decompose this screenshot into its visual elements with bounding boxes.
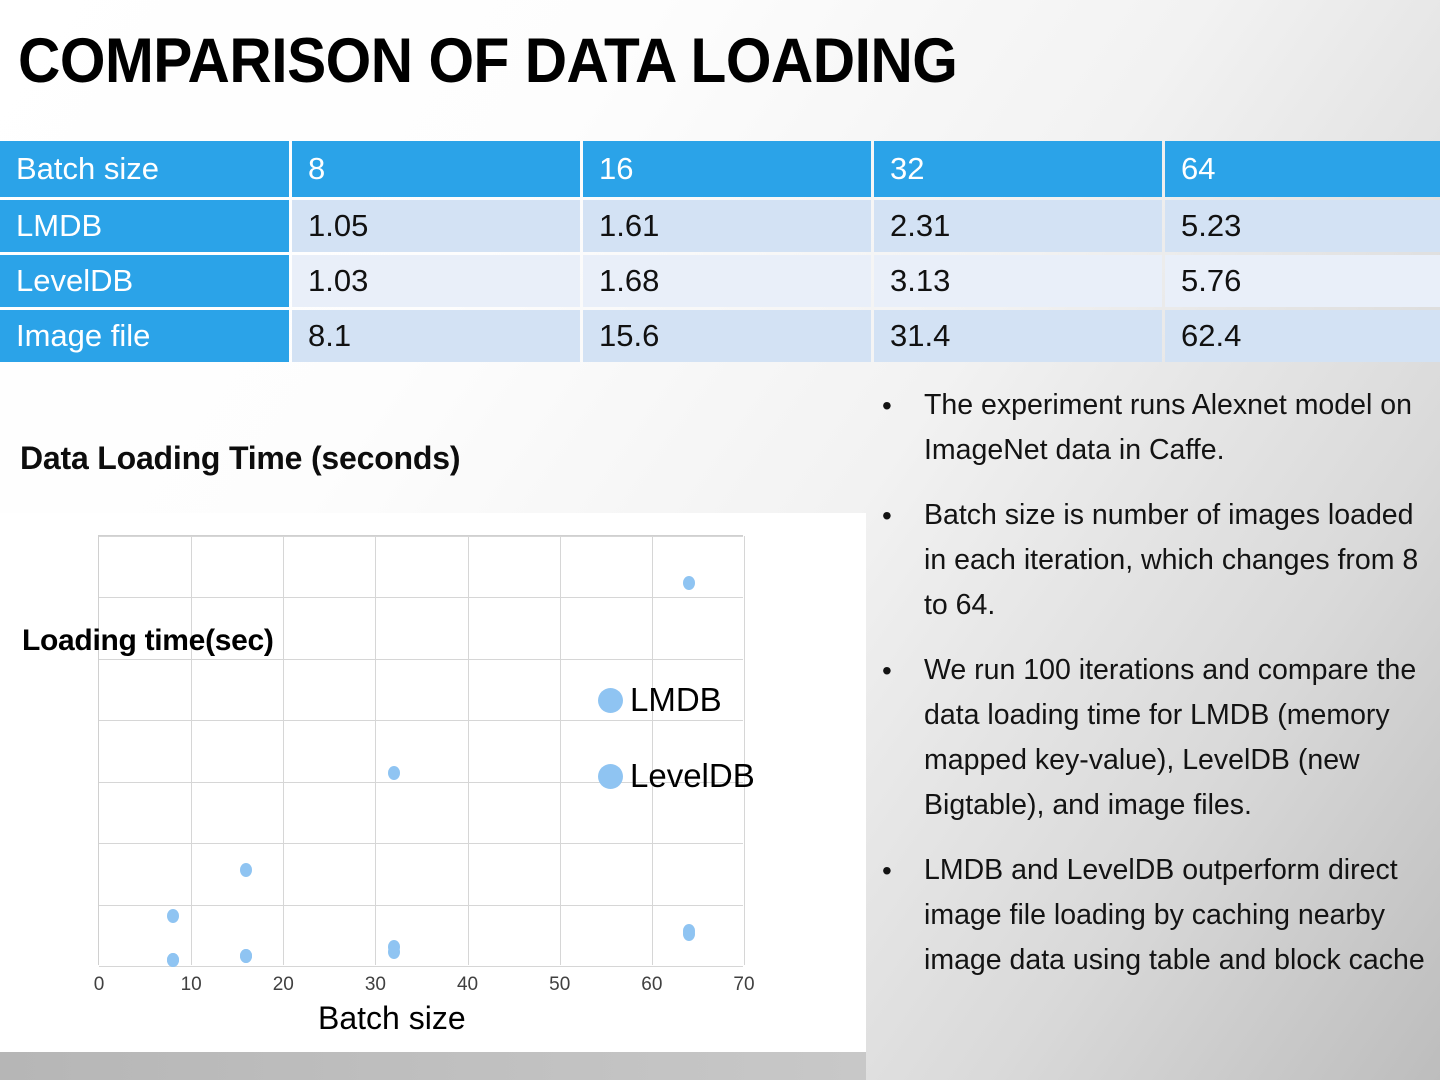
table-cell: 2.31 [874,200,1162,252]
table-row: Image file 8.1 15.6 31.4 62.4 [0,310,1440,362]
legend-marker-icon [598,764,623,789]
grid-line-horizontal [99,536,743,537]
table-cell: 1.68 [583,255,871,307]
bullet-marker-icon: • [882,648,892,693]
grid-line-vertical [191,536,192,965]
table-cell: 31.4 [874,310,1162,362]
chart-y-axis-label: Loading time(sec) [22,624,274,658]
grid-line-horizontal [99,597,743,598]
table-cell: 5.76 [1165,255,1440,307]
scatter-point [388,766,400,780]
table-cell: 1.03 [292,255,580,307]
table-header-cell: 32 [874,141,1162,197]
bottom-accent-band [0,1052,866,1080]
list-item-text: The experiment runs Alexnet model on Ima… [924,389,1412,466]
grid-line-vertical [468,536,469,965]
table-row-label: LMDB [0,200,289,252]
data-table-container: Batch size 8 16 32 64 LMDB 1.05 1.61 2.3… [0,138,1440,365]
scatter-point [240,949,252,963]
scatter-point [683,576,695,590]
legend-marker-icon [598,688,623,713]
scatter-point [388,940,400,954]
table-row: LevelDB 1.03 1.68 3.13 5.76 [0,255,1440,307]
x-axis-tick-label: 20 [253,974,313,996]
table-cell: 8.1 [292,310,580,362]
grid-line-vertical [375,536,376,965]
list-item: • We run 100 iterations and compare the … [868,648,1434,828]
table-header-cell: 8 [292,141,580,197]
list-item: • Batch size is number of images loaded … [868,493,1434,628]
scatter-point [683,924,695,938]
table-header-row: Batch size 8 16 32 64 [0,141,1440,197]
bullet-marker-icon: • [882,493,892,538]
scatter-point [167,909,179,923]
table-cell: 1.05 [292,200,580,252]
chart-legend: LMDB LevelDB [598,681,755,833]
table-row-label: Image file [0,310,289,362]
table-header-cell: 64 [1165,141,1440,197]
grid-line-vertical [560,536,561,965]
x-axis-tick-label: 0 [69,974,129,996]
x-axis-tick-label: 10 [161,974,221,996]
grid-line-horizontal [99,966,743,967]
legend-item: LMDB [598,681,755,719]
table-cell: 62.4 [1165,310,1440,362]
table-header-cell: 16 [583,141,871,197]
bullet-marker-icon: • [882,383,892,428]
x-axis-tick-label: 50 [530,974,590,996]
list-item: • LMDB and LevelDB outperform direct ima… [868,848,1434,983]
grid-line-horizontal [99,659,743,660]
grid-line-horizontal [99,905,743,906]
list-item-text: LMDB and LevelDB outperform direct image… [924,854,1425,976]
table-row-label: LevelDB [0,255,289,307]
bullet-list: • The experiment runs Alexnet model on I… [868,383,1434,1003]
bullet-marker-icon: • [882,848,892,893]
scatter-point [240,863,252,877]
slide-canvas: COMPARISON OF DATA LOADING Batch size 8 … [0,0,1440,1080]
x-axis-tick-label: 70 [714,974,774,996]
table-cell: 15.6 [583,310,871,362]
legend-item-label: LevelDB [630,757,755,795]
chart-x-axis-label: Batch size [318,1000,466,1037]
list-item-text: Batch size is number of images loaded in… [924,499,1418,621]
table-cell: 5.23 [1165,200,1440,252]
grid-line-horizontal [99,843,743,844]
scatter-point [167,953,179,967]
grid-line-vertical [283,536,284,965]
chart-caption: Data Loading Time (seconds) [20,440,460,477]
x-axis-tick-label: 30 [345,974,405,996]
legend-item: LevelDB [598,757,755,795]
list-item: • The experiment runs Alexnet model on I… [868,383,1434,473]
page-title: COMPARISON OF DATA LOADING [18,26,1115,96]
legend-item-label: LMDB [630,681,722,719]
table-row: LMDB 1.05 1.61 2.31 5.23 [0,200,1440,252]
table-cell: 1.61 [583,200,871,252]
list-item-text: We run 100 iterations and compare the da… [924,654,1416,821]
table-header-cell: Batch size [0,141,289,197]
comparison-table: Batch size 8 16 32 64 LMDB 1.05 1.61 2.3… [0,138,1440,365]
x-axis-tick-label: 60 [622,974,682,996]
table-cell: 3.13 [874,255,1162,307]
x-axis-tick-label: 40 [438,974,498,996]
